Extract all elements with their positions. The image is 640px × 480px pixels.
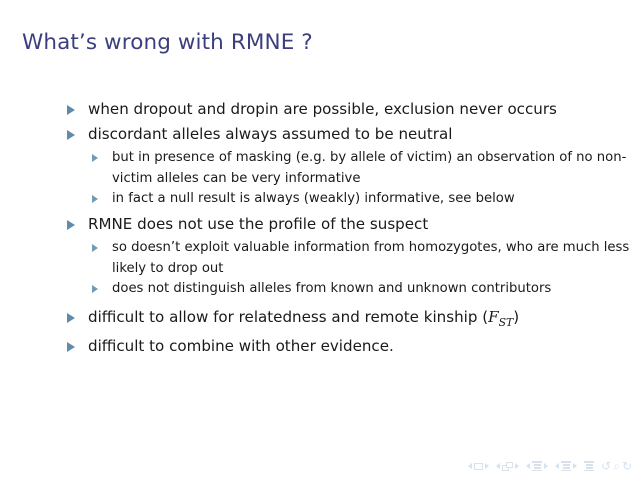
slide-icon[interactable] xyxy=(474,463,483,470)
forward-icon[interactable]: ↻ xyxy=(622,460,632,472)
bullet-list-level-2: so doesn’t exploit valuable information … xyxy=(88,238,640,300)
history-navigation-group[interactable]: ↺ ⌕ ↻ xyxy=(601,460,632,472)
triangle-bullet-icon xyxy=(92,244,98,252)
list-item: so doesn’t exploit valuable information … xyxy=(88,238,640,279)
triangle-bullet-icon xyxy=(92,195,98,203)
list-item-text-after-math: ) xyxy=(513,308,519,326)
list-item-label: discordant alleles always assumed to be … xyxy=(88,123,640,147)
slide-navigation-group[interactable] xyxy=(468,463,489,470)
presentation-navigation-group[interactable] xyxy=(584,461,594,471)
next-section-icon[interactable] xyxy=(573,463,577,469)
frame-navigation-group[interactable] xyxy=(496,462,519,471)
list-item: but in presence of masking (e.g. by alle… xyxy=(88,148,640,189)
list-item-label: in fact a null result is always (weakly)… xyxy=(112,191,515,206)
triangle-bullet-icon xyxy=(92,154,98,162)
triangle-bullet-icon xyxy=(92,285,98,293)
list-item: discordant alleles always assumed to be … xyxy=(0,123,640,210)
subsection-icon[interactable] xyxy=(532,461,542,471)
next-subsection-icon[interactable] xyxy=(544,463,548,469)
triangle-bullet-icon xyxy=(67,313,75,323)
list-item: does not distinguish alleles from known … xyxy=(88,279,640,300)
triangle-bullet-icon xyxy=(67,105,75,115)
math-subscript: ST xyxy=(499,316,514,329)
list-item-label: does not distinguish alleles from known … xyxy=(112,281,551,296)
math-base: F xyxy=(488,308,498,326)
previous-frame-icon[interactable] xyxy=(496,463,500,469)
presentation-slide: What’s wrong with RMNE ? when dropout an… xyxy=(0,0,640,480)
slide-content: when dropout and dropin are possible, ex… xyxy=(0,98,640,360)
list-item-label: when dropout and dropin are possible, ex… xyxy=(88,98,640,122)
list-item: difficult to combine with other evidence… xyxy=(0,335,640,359)
presentation-icon[interactable] xyxy=(584,461,594,471)
previous-section-icon[interactable] xyxy=(555,463,559,469)
section-navigation-group[interactable] xyxy=(555,461,577,471)
triangle-bullet-icon xyxy=(67,342,75,352)
list-item: when dropout and dropin are possible, ex… xyxy=(0,98,640,122)
beamer-navigation-bar[interactable]: ↺ ⌕ ↻ xyxy=(468,460,632,472)
triangle-bullet-icon xyxy=(67,220,75,230)
back-icon[interactable]: ↺ xyxy=(601,460,611,472)
list-item-text-before-math: difficult to allow for relatedness and r… xyxy=(88,308,488,326)
frame-icon[interactable] xyxy=(502,462,513,471)
next-slide-icon[interactable] xyxy=(485,463,489,469)
bullet-list-level-2: but in presence of masking (e.g. by alle… xyxy=(88,148,640,210)
previous-slide-icon[interactable] xyxy=(468,463,472,469)
bullet-list-level-1: when dropout and dropin are possible, ex… xyxy=(0,98,640,359)
list-item: RMNE does not use the profile of the sus… xyxy=(0,213,640,300)
triangle-bullet-icon xyxy=(67,130,75,140)
list-item-label: RMNE does not use the profile of the sus… xyxy=(88,213,640,237)
list-item: difficult to allow for relatedness and r… xyxy=(0,306,640,335)
subsection-navigation-group[interactable] xyxy=(526,461,548,471)
list-item-label: difficult to allow for relatedness and r… xyxy=(88,306,640,335)
page-title: What’s wrong with RMNE ? xyxy=(22,30,313,55)
search-icon[interactable]: ⌕ xyxy=(613,460,620,472)
list-item-label: difficult to combine with other evidence… xyxy=(88,335,640,359)
list-item: in fact a null result is always (weakly)… xyxy=(88,189,640,210)
previous-subsection-icon[interactable] xyxy=(526,463,530,469)
list-item-label: so doesn’t exploit valuable information … xyxy=(112,240,629,276)
section-icon[interactable] xyxy=(561,461,571,471)
next-frame-icon[interactable] xyxy=(515,463,519,469)
list-item-label: but in presence of masking (e.g. by alle… xyxy=(112,150,626,186)
math-fst: FST xyxy=(488,308,513,326)
